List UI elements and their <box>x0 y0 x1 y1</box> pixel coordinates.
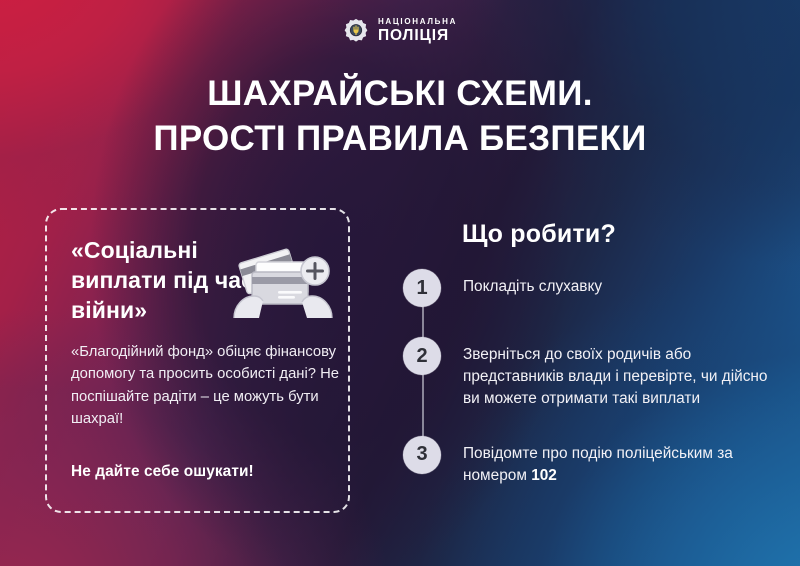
brand-logo: НАЦІОНАЛЬНА ПОЛІЦІЯ <box>0 18 800 44</box>
step-number-badge: 3 <box>403 436 441 474</box>
title-line-1: ШАХРАЙСЬКІ СХЕМИ. <box>207 74 593 113</box>
what-to-do-heading: Що робити? <box>462 220 768 249</box>
step-item: 1 Покладіть слухавку <box>398 269 768 307</box>
step-item: 3 Повідомте про подію поліцейським за но… <box>398 436 768 487</box>
scheme-card-heading: «Соціальні виплати під час війни» <box>71 236 256 326</box>
step-number-badge: 2 <box>403 337 441 375</box>
infographic-poster: НАЦІОНАЛЬНА ПОЛІЦІЯ ШАХРАЙСЬКІ СХЕМИ. ПР… <box>0 0 800 566</box>
step-item: 2 Зверніться до своїх родичів або предст… <box>398 337 768 410</box>
emergency-number: 102 <box>531 467 557 484</box>
title-line-2: ПРОСТІ ПРАВИЛА БЕЗПЕКИ <box>0 117 800 162</box>
step-text-main: Повідомте про подію поліцейським за номе… <box>463 445 733 484</box>
scheme-card-warning: Не дайте себе ошукати! <box>71 463 254 481</box>
logo-line-1: НАЦІОНАЛЬНА <box>378 18 457 26</box>
step-text: Зверніться до своїх родичів або представ… <box>463 337 768 410</box>
step-number-badge: 1 <box>403 269 441 307</box>
logo-line-2: ПОЛІЦІЯ <box>378 28 457 44</box>
credit-cards-in-hands-icon <box>232 246 334 324</box>
what-to-do-section: Що робити? 1 Покладіть слухавку 2 Зверні… <box>398 220 768 486</box>
page-title: ШАХРАЙСЬКІ СХЕМИ. ПРОСТІ ПРАВИЛА БЕЗПЕКИ <box>0 72 800 162</box>
scheme-card: «Соціальні виплати під час війни» <box>45 208 350 513</box>
step-text: Повідомте про подію поліцейським за номе… <box>463 436 768 487</box>
step-text: Покладіть слухавку <box>463 269 602 298</box>
scheme-card-body: «Благодійний фонд» обіцяє фінансову допо… <box>71 341 339 431</box>
steps-list: 1 Покладіть слухавку 2 Зверніться до сво… <box>398 269 768 486</box>
police-badge-icon <box>343 18 369 44</box>
